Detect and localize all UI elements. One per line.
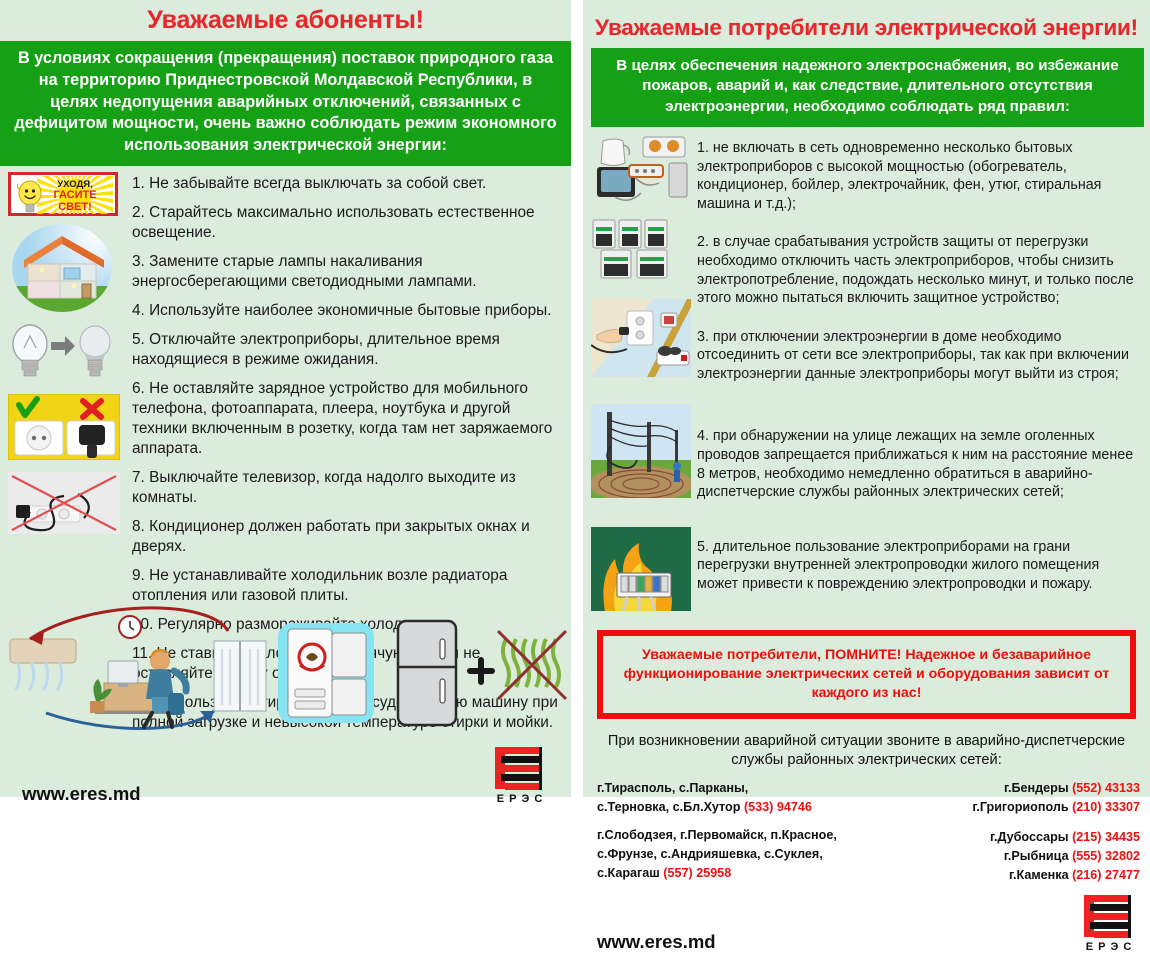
bulb-replacement-illustration: [8, 322, 112, 384]
contact-places: с.Фрунзе, с.Андрияшевка, с.Суклея,: [597, 845, 837, 864]
contact-phone[interactable]: (533) 94746: [744, 800, 812, 814]
unplug-appliances-illustration: [591, 299, 695, 382]
left-page-title: Уважаемые абоненты!: [0, 0, 571, 41]
contact-row: г.Григориополь (210) 33307: [972, 798, 1140, 817]
list-item: 1. Не забывайте всегда выключать за собо…: [132, 174, 561, 194]
sign-line-2: ГАСИТЕ СВЕТ!: [39, 190, 111, 213]
list-item: 1. не включать в сеть одновременно неско…: [697, 139, 1138, 213]
contact-places: с.Терновка, с.Бл.Хутор (533) 94746: [597, 798, 837, 817]
contact-group: г.Слободзея, г.Первомайск, п.Красное, с.…: [597, 826, 837, 883]
list-item: 2. в случае срабатывания устройств защит…: [697, 233, 1138, 307]
contact-group: г.Бендеры (552) 43133 г.Григориополь (21…: [972, 779, 1140, 817]
contact-place: г.Каменка: [1009, 868, 1069, 882]
contact-group: г.Дубоссары (215) 34435 г.Рыбница (555) …: [972, 828, 1140, 885]
contact-places: г.Слободзея, г.Первомайск, п.Красное,: [597, 826, 837, 845]
eres-logo-mark: [1082, 893, 1136, 941]
right-website[interactable]: www.eres.md: [597, 931, 716, 953]
list-item: 4. Используйте наиболее экономичные быто…: [132, 301, 561, 321]
house-cutaway-illustration: [12, 224, 112, 312]
sign-text: УХОДЯ, ГАСИТЕ СВЕТ!: [39, 180, 111, 213]
list-item: 4. при обнаружении на улице лежащих на з…: [697, 427, 1138, 501]
contact-phone[interactable]: (210) 33307: [1072, 800, 1140, 814]
list-item: 5. Отключайте электроприборы, длительное…: [132, 330, 561, 370]
contact-row: г.Дубоссары (215) 34435: [972, 828, 1140, 847]
left-intro-banner: В условиях сокращения (прекращения) пост…: [0, 41, 571, 166]
crossed-out-cords-illustration: [8, 472, 120, 534]
contact-row: г.Бендеры (552) 43133: [972, 779, 1140, 798]
eres-logo-right: Е Р Э С: [1082, 893, 1136, 953]
right-intro-banner: В целях обеспечения надежного электросна…: [591, 48, 1144, 127]
left-website[interactable]: www.eres.md: [22, 783, 141, 805]
emergency-call-note: При возникновении аварийной ситуации зво…: [603, 732, 1130, 770]
contact-group: г.Тирасполь, с.Парканы, с.Терновка, с.Бл…: [597, 779, 837, 817]
right-page-title: Уважаемые потребители электрической энер…: [583, 0, 1150, 48]
poster-root: Уважаемые абоненты! В условиях сокращени…: [0, 0, 1150, 797]
eres-logo-mark: [493, 745, 547, 793]
right-footer: www.eres.md Е Р Э С: [583, 891, 1150, 963]
eres-logo-left: Е Р Э С: [493, 745, 547, 805]
contact-place: г.Бендеры: [1004, 781, 1069, 795]
contact-row: г.Рыбница (555) 32802: [972, 847, 1140, 866]
contact-phone[interactable]: (215) 34435: [1072, 830, 1140, 844]
turn-off-light-sign: УХОДЯ, ГАСИТЕ СВЕТ!: [8, 172, 118, 216]
left-panel: Уважаемые абоненты! В условиях сокращени…: [0, 0, 571, 797]
right-illustration-strip: [583, 133, 695, 616]
contact-place: г.Дубоссары: [990, 830, 1069, 844]
list-item: 8. Кондиционер должен работать при закры…: [132, 517, 561, 557]
burning-electrical-panel-illustration: [591, 527, 695, 616]
contact-phone[interactable]: (557) 25958: [663, 866, 731, 880]
contacts-block: г.Тирасполь, с.Парканы, с.Терновка, с.Бл…: [583, 779, 1150, 891]
downed-power-lines-illustration: [591, 404, 695, 503]
contact-place: г.Рыбница: [1004, 849, 1069, 863]
contact-phone[interactable]: (552) 43133: [1072, 781, 1140, 795]
circuit-breakers-illustration: [591, 218, 695, 285]
socket-vs-plug-illustration: [8, 394, 120, 460]
contact-place: г.Григориополь: [972, 800, 1068, 814]
warning-box: Уважаемые потребители, ПОМНИТЕ! Надежное…: [597, 630, 1136, 719]
list-item: 6. Не оставляйте зарядное устройство для…: [132, 379, 561, 459]
contact-places: г.Тирасполь, с.Парканы,: [597, 779, 837, 798]
right-panel: Уважаемые потребители электрической энер…: [583, 0, 1150, 797]
list-item: 3. Замените старые лампы накаливания эне…: [132, 252, 561, 292]
right-rules-list: 1. не включать в сеть одновременно неско…: [695, 133, 1150, 616]
appliance-tips-illustration: [0, 605, 571, 745]
contact-places: с.Карагаш (557) 25958: [597, 864, 837, 883]
list-item: 7. Выключайте телевизор, когда надолго в…: [132, 468, 561, 508]
right-content: 1. не включать в сеть одновременно неско…: [583, 127, 1150, 616]
contact-phone[interactable]: (216) 27477: [1072, 868, 1140, 882]
eres-logo-text: Е Р Э С: [1082, 941, 1136, 953]
panel-divider: [571, 0, 583, 797]
list-item: 5. длительное пользование электроприбора…: [697, 538, 1138, 594]
list-item: 3. при отключении электроэнергии в доме …: [697, 328, 1138, 384]
contacts-left-column: г.Тирасполь, с.Парканы, с.Терновка, с.Бл…: [597, 779, 837, 891]
left-bottom-band: www.eres.md Е Р Э С: [0, 597, 571, 797]
eres-logo-text: Е Р Э С: [493, 793, 547, 805]
overloaded-outlet-illustration: [591, 133, 695, 212]
contact-row: г.Каменка (216) 27477: [972, 866, 1140, 885]
contacts-right-column: г.Бендеры (552) 43133 г.Григориополь (21…: [972, 779, 1140, 891]
list-item: 2. Старайтесь максимально использовать е…: [132, 203, 561, 243]
contact-phone[interactable]: (555) 32802: [1072, 849, 1140, 863]
